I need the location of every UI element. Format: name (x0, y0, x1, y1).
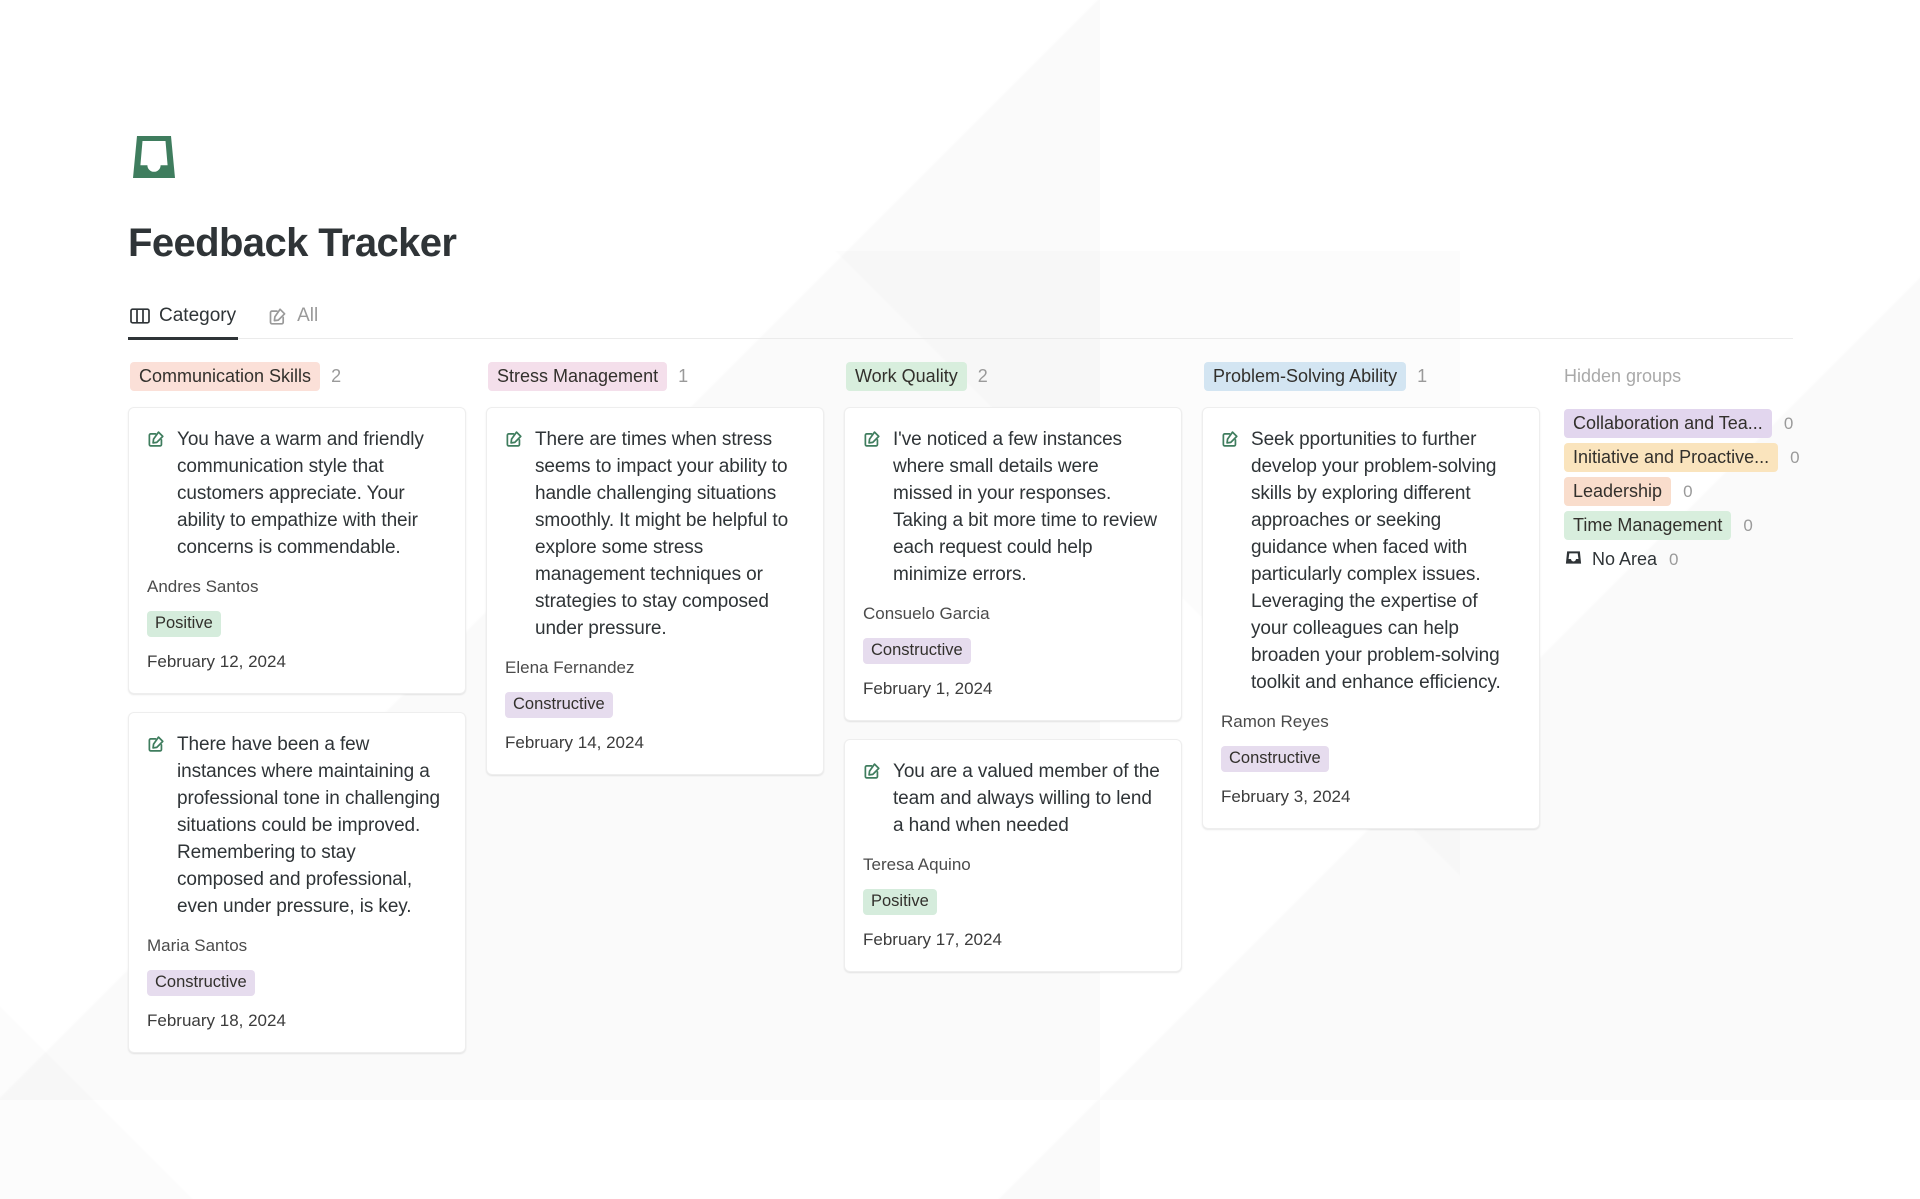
edit-square-icon (863, 429, 882, 453)
edit-square-icon (1221, 429, 1240, 453)
card-text: I've noticed a few instances where small… (893, 426, 1161, 588)
column-header[interactable]: Stress Management 1 (486, 361, 844, 391)
app-logo-inbox-icon (128, 131, 180, 183)
hidden-group-count: 0 (1790, 448, 1799, 468)
card-date: February 18, 2024 (147, 1010, 445, 1032)
feedback-card[interactable]: Seek pportunities to further develop you… (1202, 407, 1540, 829)
hidden-group-item[interactable]: Time Management 0 (1564, 509, 1890, 542)
card-text: There have been a few instances where ma… (177, 731, 445, 920)
column-title-badge: Communication Skills (130, 362, 320, 391)
card-author: Ramon Reyes (1221, 711, 1519, 733)
card-tag-badge: Constructive (863, 638, 971, 664)
hidden-group-badge: Initiative and Proactive... (1564, 443, 1778, 472)
card-author: Andres Santos (147, 576, 445, 598)
card-date: February 17, 2024 (863, 929, 1161, 951)
feedback-card[interactable]: There have been a few instances where ma… (128, 712, 466, 1053)
card-date: February 14, 2024 (505, 732, 803, 754)
page-root: Feedback Tracker Category All (0, 131, 1920, 1071)
card-author: Maria Santos (147, 935, 445, 957)
hidden-group-label: No Area (1592, 549, 1657, 570)
column-count: 1 (678, 366, 688, 387)
hidden-group-badge: Time Management (1564, 511, 1731, 540)
card-date: February 1, 2024 (863, 678, 1161, 700)
view-tabbar: Category All (128, 295, 1793, 339)
card-text: There are times when stress seems to imp… (535, 426, 803, 642)
card-date: February 12, 2024 (147, 651, 445, 673)
edit-square-icon (863, 761, 882, 785)
column-header[interactable]: Work Quality 2 (844, 361, 1202, 391)
page-title: Feedback Tracker (128, 219, 1920, 267)
tab-all[interactable]: All (266, 305, 332, 338)
column-count: 2 (978, 366, 988, 387)
card-tag-badge: Constructive (147, 970, 255, 996)
card-author: Consuelo Garcia (863, 603, 1161, 625)
feedback-card[interactable]: You have a warm and friendly communicati… (128, 407, 466, 694)
tab-all-label: All (297, 305, 318, 327)
tab-category-label: Category (159, 305, 236, 327)
card-text: Seek pportunities to further develop you… (1251, 426, 1519, 696)
card-tag-badge: Constructive (505, 692, 613, 718)
feedback-card[interactable]: I've noticed a few instances where small… (844, 407, 1182, 721)
hidden-group-count: 0 (1743, 516, 1752, 536)
hidden-group-badge: Collaboration and Tea... (1564, 409, 1772, 438)
card-author: Teresa Aquino (863, 854, 1161, 876)
card-author: Elena Fernandez (505, 657, 803, 679)
edit-square-icon (505, 429, 524, 453)
inbox-tray-icon (1564, 548, 1583, 572)
hidden-group-item[interactable]: Initiative and Proactive... 0 (1564, 441, 1890, 474)
board-column-communication-skills: Communication Skills 2 You have a warm a… (128, 361, 486, 1071)
hidden-group-item[interactable]: Collaboration and Tea... 0 (1564, 407, 1890, 440)
card-text: You have a warm and friendly communicati… (177, 426, 445, 561)
column-count: 1 (1417, 366, 1427, 387)
edit-square-icon (147, 734, 166, 758)
card-tag-badge: Positive (863, 889, 937, 915)
column-title-badge: Work Quality (846, 362, 967, 391)
column-header[interactable]: Communication Skills 2 (128, 361, 486, 391)
board-column-stress-management: Stress Management 1 There are times when… (486, 361, 844, 793)
board-column-work-quality: Work Quality 2 I've noticed a few instan… (844, 361, 1202, 990)
card-text: You are a valued member of the team and … (893, 758, 1161, 839)
feedback-card[interactable]: You are a valued member of the team and … (844, 739, 1182, 972)
column-title-badge: Problem-Solving Ability (1204, 362, 1406, 391)
card-date: February 3, 2024 (1221, 786, 1519, 808)
hidden-group-count: 0 (1784, 414, 1793, 434)
column-count: 2 (331, 366, 341, 387)
column-header[interactable]: Problem-Solving Ability 1 (1202, 361, 1560, 391)
hidden-group-badge: Leadership (1564, 477, 1671, 506)
hidden-group-count: 0 (1669, 550, 1678, 570)
card-tag-badge: Constructive (1221, 746, 1329, 772)
kanban-board: Communication Skills 2 You have a warm a… (128, 361, 1920, 1071)
board-column-problem-solving-ability: Problem-Solving Ability 1 Seek pportunit… (1202, 361, 1560, 847)
board-columns-icon (130, 307, 150, 325)
tab-category[interactable]: Category (128, 305, 250, 338)
hidden-group-count: 0 (1683, 482, 1692, 502)
edit-square-icon (147, 429, 166, 453)
hidden-groups-panel: Hidden groups Collaboration and Tea... 0… (1560, 361, 1890, 577)
column-title-badge: Stress Management (488, 362, 667, 391)
hidden-group-item-no-area[interactable]: No Area 0 (1564, 543, 1890, 576)
hidden-groups-title: Hidden groups (1564, 361, 1890, 391)
feedback-card[interactable]: There are times when stress seems to imp… (486, 407, 824, 775)
hidden-group-item[interactable]: Leadership 0 (1564, 475, 1890, 508)
card-tag-badge: Positive (147, 611, 221, 637)
edit-square-icon (268, 306, 288, 326)
